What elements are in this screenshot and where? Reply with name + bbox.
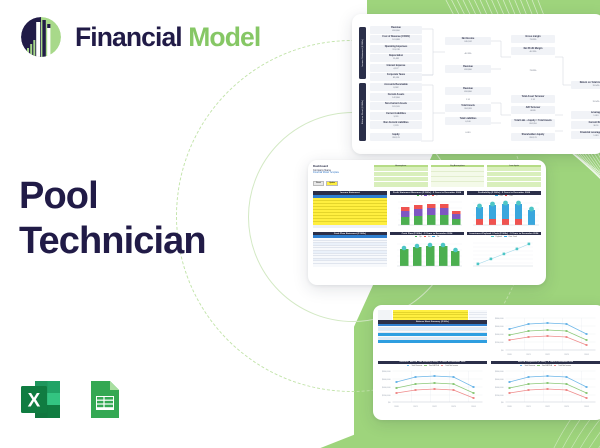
tree-node-value: 2,229 bbox=[393, 125, 398, 127]
tree-node-value: 36.51 bbox=[593, 125, 598, 127]
svg-text:2021: 2021 bbox=[413, 406, 418, 408]
tree-ratio-value: 1.91 bbox=[466, 99, 470, 101]
svg-text:$800,000: $800,000 bbox=[495, 371, 504, 373]
tree-node[interactable]: Total Liabilities 6,140 bbox=[445, 117, 491, 125]
tree-node-value: 40.33% bbox=[529, 51, 536, 53]
tree-ratio: 40.33% bbox=[445, 50, 491, 58]
brand-name: Financial Model bbox=[75, 24, 260, 51]
tree-node-value: 3,911 bbox=[393, 116, 398, 118]
svg-text:2023: 2023 bbox=[451, 406, 456, 408]
svg-text:2023: 2023 bbox=[564, 354, 569, 356]
svg-text:$200,000: $200,000 bbox=[495, 342, 504, 344]
tree-node-value: 1.019 bbox=[593, 115, 598, 117]
line-chart-top-right: $0 $200,000 $400,000 $600,000 $800,000 2… bbox=[491, 313, 600, 359]
tree-node-value: 113,748 bbox=[392, 49, 399, 51]
tree-node[interactable]: Revenue 618,800 bbox=[445, 65, 491, 73]
tree-node-value: 6,140 bbox=[465, 121, 470, 123]
page-title: Pool Technician bbox=[19, 174, 206, 264]
dashboard-header: Dashboard Company Name Financial Model T… bbox=[313, 165, 541, 187]
svg-text:$600,000: $600,000 bbox=[495, 379, 504, 381]
tree-node-value: 142,806 bbox=[392, 97, 400, 99]
tree-ratio: 0.019 bbox=[445, 130, 491, 136]
dashboard-body: Dashboard Company Name Financial Model T… bbox=[308, 160, 546, 285]
svg-text:$0: $0 bbox=[501, 402, 504, 404]
update-button[interactable]: Update bbox=[326, 181, 338, 186]
page-title-line-1: Pool bbox=[19, 174, 206, 219]
slide-canvas: Financial Model Pool Technician X bbox=[0, 0, 600, 448]
tree-node[interactable]: Total Liab. + Equity = Total Assets 324,… bbox=[511, 119, 555, 127]
tree-node[interactable]: Financial Leverage multiplier 1.019 bbox=[571, 131, 600, 139]
svg-text:$400,000: $400,000 bbox=[495, 387, 504, 389]
section-band-label: Income Statement ($ 000s) bbox=[362, 39, 364, 67]
tree-node[interactable]: Non-Current Liabilities 2,229 bbox=[370, 121, 422, 129]
tree-node[interactable]: Corporate Taxes 82,034 bbox=[370, 73, 422, 81]
svg-text:2020: 2020 bbox=[394, 406, 399, 408]
dashboard-row-2: Cash Flow Statement ($ 000s) C bbox=[313, 232, 541, 270]
microsoft-excel-icon[interactable]: X bbox=[19, 377, 64, 422]
legend-label: Total Net Income bbox=[445, 365, 458, 367]
section-band-balance-sheet: Balance Sheet ($ 000s) bbox=[359, 83, 366, 141]
svg-text:2024: 2024 bbox=[584, 354, 589, 356]
line-chart-bottom-right: $0 $200,000 $400,000 $600,000 $800,000 2… bbox=[491, 367, 600, 411]
tree-node-value: 68.89 bbox=[530, 110, 535, 112]
tree-node[interactable]: Leverage 1.019 bbox=[571, 111, 600, 119]
svg-text:2023: 2023 bbox=[564, 406, 569, 408]
svg-text:$800,000: $800,000 bbox=[382, 371, 391, 373]
svg-text:$400,000: $400,000 bbox=[495, 334, 504, 336]
line-charts-body: Balance Sheet Summary ($ 000s) bbox=[373, 305, 600, 420]
tree-node-value: 1.91 bbox=[531, 99, 535, 101]
tree-ratio: 76.94% bbox=[571, 99, 600, 105]
tree-node[interactable]: Current Liabilities 3,911 bbox=[370, 112, 422, 120]
balance-sheet-panel[interactable]: Balance Sheet Summary ($ 000s) bbox=[378, 310, 487, 359]
svg-text:2020: 2020 bbox=[507, 406, 512, 408]
brand-name-part2: Model bbox=[188, 22, 260, 52]
cash-flow-column-chart bbox=[390, 239, 464, 270]
svg-text:2021: 2021 bbox=[526, 354, 531, 356]
investment-payback-line-chart bbox=[467, 239, 541, 270]
file-format-icons: X bbox=[19, 377, 127, 422]
legend-label: Total Revenue bbox=[524, 365, 535, 367]
section-band-label: Balance Sheet ($ 000s) bbox=[362, 100, 364, 124]
profitability-chart bbox=[467, 198, 541, 229]
charts-row-1: Balance Sheet Summary ($ 000s) bbox=[378, 310, 600, 359]
tree-node[interactable]: Return on Total Assets (ROA) 76.94% bbox=[571, 81, 600, 89]
svg-text:2024: 2024 bbox=[584, 406, 589, 408]
svg-text:$600,000: $600,000 bbox=[382, 379, 391, 381]
tree-node-value: 324,310 bbox=[529, 123, 537, 125]
dashboard-link[interactable]: Financial Model Template bbox=[313, 172, 371, 175]
tree-node[interactable]: A/R Turnover 68.89 bbox=[511, 106, 555, 114]
tree-node[interactable]: Non-Current Assets 181,520 bbox=[370, 102, 422, 110]
charts-row-2: Revenue / EBITDA / Net Income ($ 000s) -… bbox=[378, 361, 600, 412]
svg-text:2022: 2022 bbox=[545, 354, 550, 356]
dupont-tree: Income Statement ($ 000s) Balance Sheet … bbox=[359, 23, 598, 147]
assumptions-panel[interactable]: Assumptions bbox=[374, 165, 428, 187]
google-sheets-icon[interactable] bbox=[82, 377, 127, 422]
svg-text:2022: 2022 bbox=[432, 406, 437, 408]
tree-node[interactable]: Net Income 249,532 bbox=[445, 37, 491, 45]
tree-ratio-value: 0.019 bbox=[465, 132, 470, 134]
tree-node[interactable]: Gross margin 73.83% bbox=[511, 35, 555, 43]
line-charts-card[interactable]: Balance Sheet Summary ($ 000s) bbox=[373, 305, 600, 420]
svg-text:2021: 2021 bbox=[526, 406, 531, 408]
svg-text:$200,000: $200,000 bbox=[382, 395, 391, 397]
page-title-line-2: Technician bbox=[19, 219, 206, 264]
tree-ratio: 73.83% bbox=[511, 68, 555, 74]
pie-bar-chart-circle-logo bbox=[18, 14, 64, 60]
tree-node-value: 161,888 bbox=[392, 39, 400, 41]
tree-node-value: 318,170 bbox=[529, 137, 537, 139]
tree-ratio-value: 73.83% bbox=[529, 70, 536, 72]
income-statement-panel[interactable]: Income Statement bbox=[313, 191, 387, 229]
legend-label: Total EBITDA bbox=[542, 365, 552, 367]
tree-ratio-value: 40.33% bbox=[464, 53, 471, 55]
tree-ratio: 1.91 bbox=[445, 97, 491, 103]
svg-text:$0: $0 bbox=[388, 402, 391, 404]
tree-node[interactable]: Revenue 618,800 bbox=[370, 26, 422, 34]
brand-name-part1: Financial bbox=[75, 22, 182, 52]
section-band-income-statement: Income Statement ($ 000s) bbox=[359, 27, 366, 79]
legend-label: Total Revenue bbox=[411, 365, 422, 367]
tree-ratio-value: 76.94% bbox=[592, 101, 599, 103]
tree-node[interactable]: Current Ratio 36.51 bbox=[571, 121, 600, 129]
legend-label: Total Net Income bbox=[558, 365, 571, 367]
tree-node-value: 4,127 bbox=[393, 68, 398, 70]
tree-node[interactable]: Current Assets 142,806 bbox=[370, 93, 422, 101]
svg-text:2024: 2024 bbox=[471, 406, 476, 408]
tree-node-value: 318,170 bbox=[392, 137, 400, 139]
tree-node-value: 11,481 bbox=[393, 58, 399, 60]
tree-node[interactable]: Total Asset Turnover 1.91 bbox=[511, 95, 555, 103]
tree-node-value: 618,800 bbox=[392, 30, 400, 32]
tree-node[interactable]: Depreciation 11,481 bbox=[370, 54, 422, 62]
tree-node-value: 1.019 bbox=[593, 135, 598, 137]
key-assumptions-panel[interactable]: Key Assumptions bbox=[431, 165, 485, 187]
dashboard-row-1: Income Statement Profit Statement Measur… bbox=[313, 191, 541, 229]
financial-dashboard-card[interactable]: Dashboard Company Name Financial Model T… bbox=[308, 160, 546, 285]
svg-text:X: X bbox=[28, 391, 41, 412]
tree-node-value: 8,982 bbox=[393, 87, 398, 89]
tree-node-value: 76.94% bbox=[592, 85, 599, 87]
tree-node-value: 249,532 bbox=[464, 41, 472, 43]
tree-node[interactable]: Equity 318,170 bbox=[370, 133, 422, 141]
svg-text:$0: $0 bbox=[501, 350, 504, 352]
ebitda-comparison-panel[interactable]: EBITDA Comparison ($ 000s) - 5 Years to … bbox=[491, 361, 600, 412]
brand-logo: Financial Model bbox=[18, 14, 260, 60]
reset-button[interactable]: Reset bbox=[313, 181, 324, 186]
svg-text:$800,000: $800,000 bbox=[495, 318, 504, 320]
tree-node[interactable]: Interest Expense 4,127 bbox=[370, 64, 422, 72]
revenue-ebitda-netincome-panel[interactable]: Revenue / EBITDA / Net Income ($ 000s) -… bbox=[378, 361, 487, 412]
line-chart-bottom-left: $0 $200,000 $400,000 $600,000 $800,000 2… bbox=[378, 367, 487, 411]
svg-text:$600,000: $600,000 bbox=[495, 326, 504, 328]
tree-node-value: 618,800 bbox=[464, 91, 472, 93]
tree-node[interactable]: Total Assets 324,326 bbox=[445, 104, 491, 112]
tree-node-value: 324,326 bbox=[464, 108, 472, 110]
svg-text:$400,000: $400,000 bbox=[382, 387, 391, 389]
tree-node[interactable]: Net Profit Margin 40.33% bbox=[511, 47, 555, 55]
tree-node[interactable]: Cost of Revenue (COGS) 161,888 bbox=[370, 35, 422, 43]
tree-node-value: 82,034 bbox=[393, 77, 399, 79]
stacked-column-chart bbox=[390, 198, 464, 229]
legend-label: Total EBITDA bbox=[429, 365, 439, 367]
tree-node-value: 181,520 bbox=[392, 106, 400, 108]
cash-flow-chart-panel[interactable]: Cash Flow ($ 000s) - 5 Years to December… bbox=[390, 232, 464, 270]
tree-node-value: 73.83% bbox=[529, 39, 536, 41]
cash-flow-table-panel[interactable]: Cash Flow Statement ($ 000s) bbox=[313, 232, 387, 270]
profit-measures-chart-panel[interactable]: Profit Statement Measures ($ 000s) - 5 Y… bbox=[390, 191, 464, 229]
profitability-chart-panel[interactable]: Profitability ($ 000s) - 5 Years to Dece… bbox=[467, 191, 541, 229]
dupont-analysis-tree-card[interactable]: Income Statement ($ 000s) Balance Sheet … bbox=[352, 14, 600, 154]
svg-text:2022: 2022 bbox=[545, 406, 550, 408]
tree-node[interactable]: Accounts Receivable 8,982 bbox=[370, 83, 422, 91]
svg-text:$200,000: $200,000 bbox=[495, 395, 504, 397]
svg-text:2020: 2020 bbox=[507, 354, 512, 356]
loan-inputs-panel[interactable]: Loan Inputs bbox=[487, 165, 541, 187]
tree-node[interactable]: Shareholders Equity 318,170 bbox=[511, 133, 555, 141]
tree-node[interactable]: Operating Expenses 113,748 bbox=[370, 45, 422, 53]
tree-node-value: 618,800 bbox=[464, 69, 472, 71]
income-statement-line-panel[interactable]: $0 $200,000 $400,000 $600,000 $800,000 2… bbox=[491, 310, 600, 359]
investment-payback-chart-panel[interactable]: Investment Payback / Cash ($ 000s) - 5 Y… bbox=[467, 232, 541, 270]
tree-node[interactable]: Revenue 618,800 bbox=[445, 87, 491, 95]
